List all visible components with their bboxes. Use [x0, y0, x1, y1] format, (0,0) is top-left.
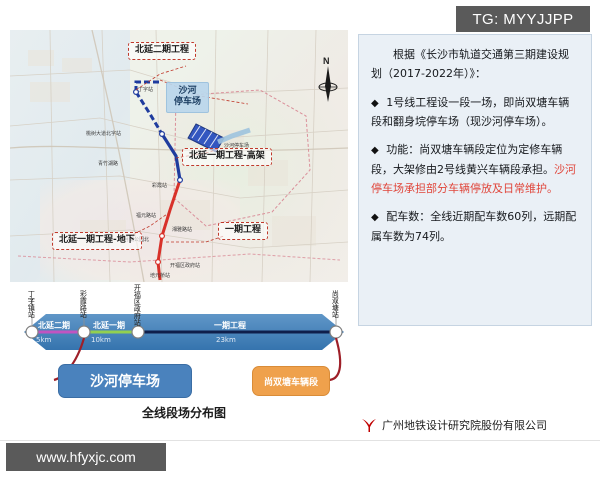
callout-label: 北延一期工程-地下	[59, 235, 135, 245]
panel-item-2-text: 功能：尚双塘车辆段定位为定修车辆段，大架修由2号线黄兴车辆段承担。	[371, 143, 562, 176]
bullet-icon: ◆	[371, 145, 379, 156]
callout-north-ext-phase1-elevated: 北延一期工程-高架	[182, 148, 272, 166]
schematic-vector	[10, 292, 358, 422]
map-station-label: 福元路站	[136, 212, 156, 219]
depot-label-shahe-parking: 沙河停车场	[90, 371, 160, 391]
panel-item-1-text: 1号线工程设一段一场，即尚双塘车辆段和翻身垸停车场（现沙河停车场）。	[371, 96, 569, 129]
segment-length-north-ext-phase1: 10km	[91, 336, 111, 344]
callout-label: 北延二期工程	[135, 45, 189, 55]
depot-label-shangshuangtang: 尚双塘车辆段	[264, 375, 318, 388]
bullet-icon: ◆	[371, 98, 379, 109]
footer-divider	[0, 440, 600, 441]
callout-label: 一期工程	[225, 225, 261, 235]
schematic-caption: 全线段场分布图	[10, 404, 358, 421]
panel-intro: 根据《长沙市轨道交通第三期建设规划（2017-2022年）》：	[371, 45, 579, 84]
map-depot-label: 沙河 停车场	[166, 82, 209, 113]
tg-tag: TG: MYYJJPP	[456, 6, 590, 32]
site-watermark-label: www.hfyxjc.com	[36, 449, 136, 465]
panel-item-3: ◆ 配车数：全线近期配车数60列，远期配属车数为74列。	[371, 207, 579, 246]
map-depot-label-line2: 停车场	[174, 97, 201, 108]
company-logo-icon	[360, 417, 377, 434]
bullet-icon: ◆	[371, 212, 379, 223]
footer-branding: 广州地铁设计研究院股份有限公司	[360, 412, 596, 438]
panel-item-1: ◆ 1号线工程设一段一场，即尚双塘车辆段和翻身垸停车场（现沙河停车场）。	[371, 93, 579, 132]
map-station-label: 湘雅路站	[172, 226, 192, 233]
site-watermark: www.hfyxjc.com	[6, 443, 166, 471]
segment-length-phase1: 23km	[216, 336, 236, 344]
callout-north-ext-phase1-underground: 北延一期工程-地下	[52, 232, 142, 250]
compass-rose: N	[315, 58, 341, 104]
map-station-label: 青竹湖路	[98, 160, 118, 167]
company-name: 广州地铁设计研究院股份有限公司	[382, 417, 547, 433]
segment-label-phase1: 一期工程	[214, 320, 246, 331]
depot-box-shangshuangtang: 尚双塘车辆段	[252, 366, 330, 396]
station-label-shangshuangtang: 尚双塘站	[331, 290, 338, 328]
map-station-label: 丁字站	[138, 86, 153, 93]
station-label-caixialu: 彩霞路站	[79, 290, 86, 328]
map-station-label: 开福区政府站	[170, 262, 200, 269]
station-label-kaifuqu-zhengfu: 开福区政府站	[133, 284, 140, 328]
line-schematic: 北延二期 5km 北延一期 10km 一期工程 23km 丁字镇站 彩霞路站 开…	[10, 292, 358, 422]
panel-item-2: ◆ 功能：尚双塘车辆段定位为定修车辆段，大架修由2号线黄兴车辆段承担。沙河停车场…	[371, 140, 579, 198]
map-station-label: 培元桥站	[150, 272, 170, 279]
tg-tag-label: TG: MYYJJPP	[472, 11, 573, 28]
depot-box-shahe-parking: 沙河停车场	[58, 364, 192, 398]
callout-north-ext-phase2: 北延二期工程	[128, 42, 196, 60]
panel-item-3-text: 配车数：全线近期配车数60列，远期配属车数为74列。	[371, 210, 576, 243]
station-label-dingzizhen: 丁字镇站	[27, 290, 34, 328]
map-depot-label-line1: 沙河	[174, 86, 201, 97]
segment-label-north-ext-phase1: 北延一期	[93, 320, 125, 331]
info-panel: 根据《长沙市轨道交通第三期建设规划（2017-2022年）》： ◆ 1号线工程设…	[358, 34, 592, 326]
map-station-label: 彩霞站	[152, 182, 167, 189]
callout-label: 北延一期工程-高架	[189, 151, 265, 161]
segment-label-north-ext-phase2: 北延二期	[38, 320, 70, 331]
map-station-label: 桃树大道北字站	[86, 130, 121, 137]
segment-length-north-ext-phase2: 5km	[36, 336, 51, 344]
callout-phase1: 一期工程	[218, 222, 268, 240]
